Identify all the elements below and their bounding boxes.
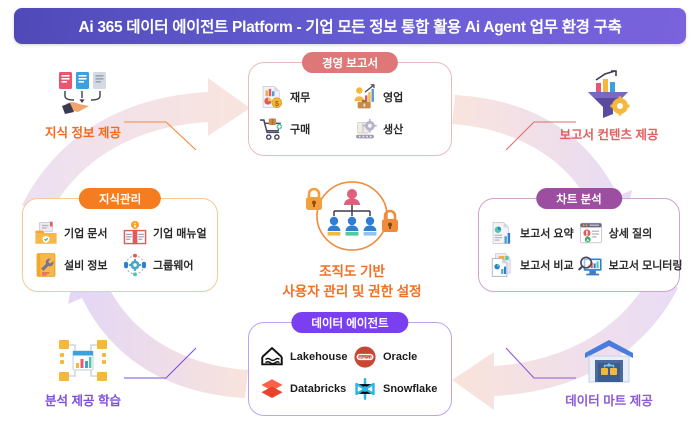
item-groupware[interactable]: 그룹웨어	[122, 252, 207, 278]
annotation-analysis-learning: 분석 제공 학습	[8, 338, 158, 409]
item-label: 재무	[290, 89, 310, 105]
annotation-label: 보고서 컨텐츠 제공	[534, 124, 684, 143]
item-label: 보고서 비교	[520, 257, 574, 273]
item-lakehouse[interactable]: Lakehouse	[259, 344, 348, 370]
item-report-summary[interactable]: 보고서 요약	[489, 220, 574, 246]
annotation-label: 데이터 마트 제공	[534, 390, 684, 409]
annotation-data-mart-provision: 데이터 마트 제공	[534, 338, 684, 409]
funnel-chart-icon	[582, 70, 636, 118]
item-production[interactable]: 생산	[352, 116, 441, 142]
oracle-logo-icon: ORACLE	[352, 344, 378, 370]
item-label: 기업 문서	[64, 225, 108, 241]
box-header-data-agent: 데이터 에이전트	[291, 312, 408, 333]
item-oracle[interactable]: ORACLE Oracle	[352, 344, 441, 370]
lakehouse-logo-icon	[259, 344, 285, 370]
org-chart-lock-icon	[282, 180, 422, 256]
item-label: 구매	[290, 121, 310, 137]
annotation-report-content-provision: 보고서 컨텐츠 제공	[534, 70, 684, 143]
detail-query-icon: A	[578, 220, 604, 246]
item-label: 그룹웨어	[153, 257, 193, 273]
annotation-label: 지식 정보 제공	[8, 122, 158, 141]
annotation-knowledge-info-provision: 지식 정보 제공	[8, 70, 158, 141]
item-corporate-document[interactable]: 기업 문서	[33, 220, 118, 246]
item-report-compare[interactable]: 보고서 비교	[489, 252, 574, 278]
item-label: 기업 매뉴얼	[153, 225, 207, 241]
svg-text:A: A	[586, 238, 589, 243]
item-report-monitoring[interactable]: 보고서 모니터링	[578, 252, 683, 278]
box-management-report[interactable]: 경영 보고서 $ 재무	[248, 62, 452, 156]
box-chart-analysis[interactable]: 차트 분석 보고서 요약	[478, 198, 680, 292]
item-label: 보고서 모니터링	[609, 257, 683, 273]
item-label: 상세 질의	[609, 225, 653, 241]
item-label: 보고서 요약	[520, 225, 574, 241]
item-label: 생산	[383, 121, 403, 137]
center-caption-line2: 사용자 관리 및 권한 설정	[282, 283, 422, 301]
item-label: Databricks	[290, 383, 346, 395]
document-folder-icon	[33, 220, 59, 246]
item-corporate-manual[interactable]: 기업 매뉴얼	[122, 220, 207, 246]
item-detail-query[interactable]: A 상세 질의	[578, 220, 683, 246]
item-label: Snowflake	[383, 383, 437, 395]
box-header-knowledge-management: 지식관리	[79, 188, 161, 209]
equipment-wrench-icon	[33, 252, 59, 278]
groupware-network-icon	[122, 252, 148, 278]
report-compare-icon	[489, 252, 515, 278]
item-equipment-info[interactable]: 설비 정보	[33, 252, 118, 278]
report-summary-icon	[489, 220, 515, 246]
box-data-agent[interactable]: 데이터 에이전트 Lakehouse ORACLE Oracle	[248, 322, 452, 416]
databricks-logo-icon	[259, 376, 285, 402]
box-header-management-report: 경영 보고서	[302, 52, 398, 73]
report-monitoring-icon	[578, 252, 604, 278]
data-warehouse-icon	[581, 338, 637, 384]
box-header-chart-analysis: 차트 분석	[536, 188, 622, 209]
item-label: 설비 정보	[64, 257, 108, 273]
item-databricks[interactable]: Databricks	[259, 376, 348, 402]
item-label: Oracle	[383, 351, 417, 363]
item-label: 영업	[383, 89, 403, 105]
analysis-learning-icon	[55, 338, 111, 384]
production-gear-icon	[352, 116, 378, 142]
snowflake-logo-icon	[352, 376, 378, 402]
item-snowflake[interactable]: Snowflake	[352, 376, 441, 402]
item-sales[interactable]: 영업	[352, 84, 441, 110]
diagram-canvas: Ai 365 데이터 에이전트 Platform - 기업 모든 정보 통합 활…	[0, 0, 700, 427]
item-label: Lakehouse	[290, 351, 347, 363]
manual-book-icon	[122, 220, 148, 246]
center-caption-line1: 조직도 기반	[282, 263, 422, 281]
box-knowledge-management[interactable]: 지식관리 기업 문서	[22, 198, 218, 292]
sales-chart-icon	[352, 84, 378, 110]
item-finance[interactable]: $ 재무	[259, 84, 348, 110]
center-org-chart-block: 조직도 기반 사용자 관리 및 권한 설정	[282, 180, 422, 301]
hand-documents-icon	[52, 70, 114, 116]
svg-text:$: $	[275, 99, 279, 108]
purchase-cart-icon	[259, 116, 285, 142]
annotation-label: 분석 제공 학습	[8, 390, 158, 409]
finance-report-icon: $	[259, 84, 285, 110]
svg-text:ORACLE: ORACLE	[357, 356, 373, 360]
item-purchase[interactable]: 구매	[259, 116, 348, 142]
